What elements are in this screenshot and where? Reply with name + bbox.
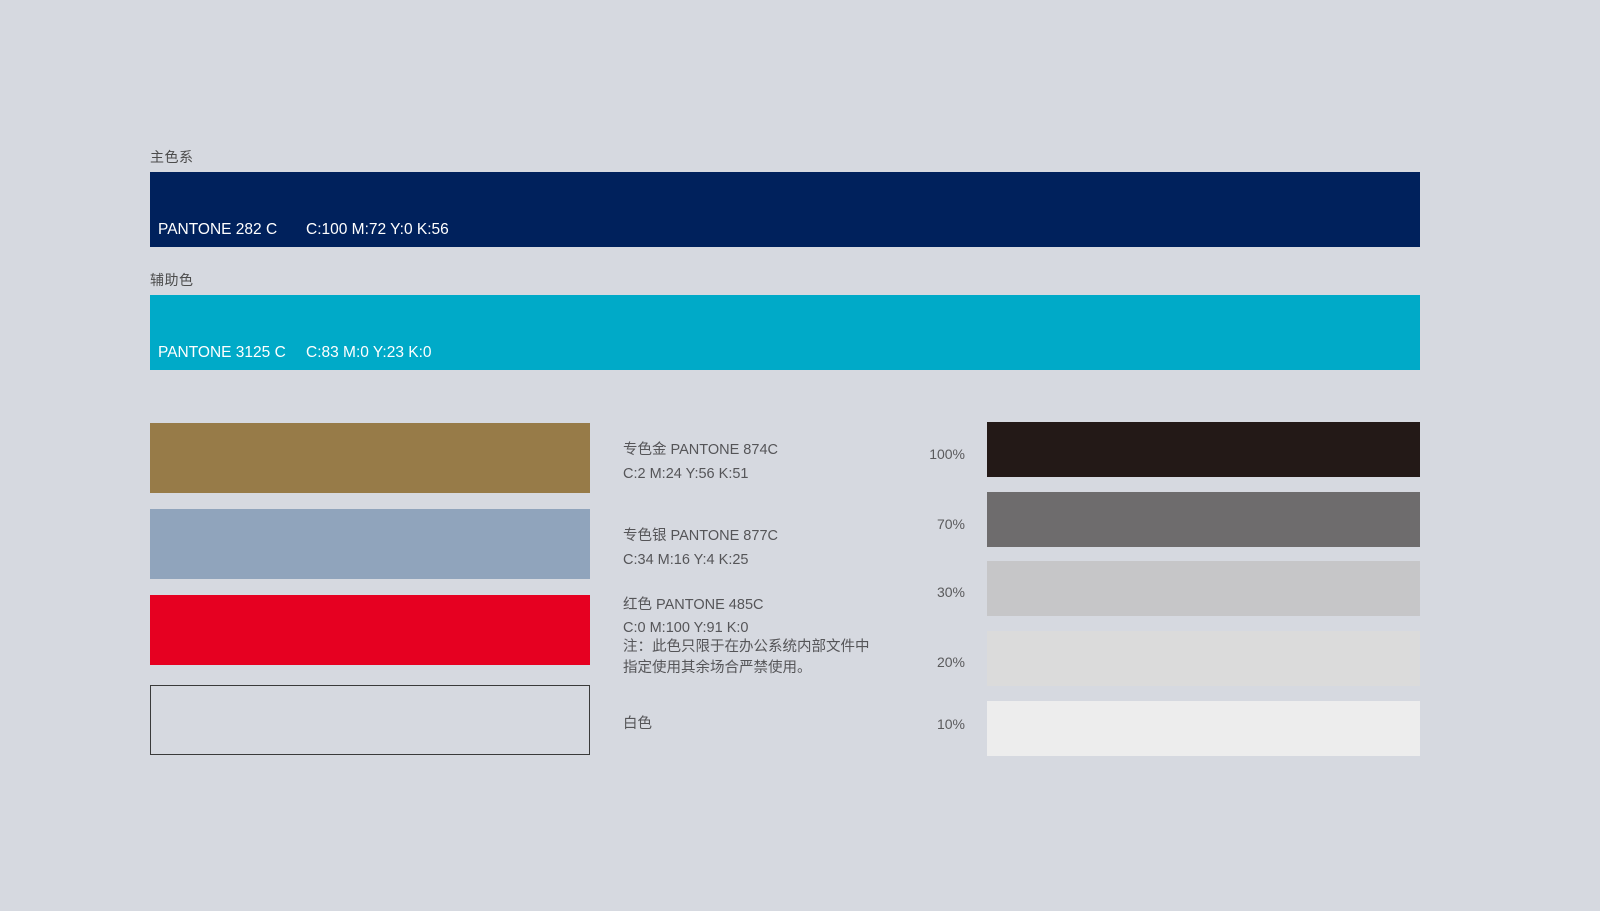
tone-percent-label-20: 20% <box>905 655 965 669</box>
spot-color-swatch-silver <box>150 509 590 579</box>
spot-color-gold-cmyk: C:2 M:24 Y:56 K:51 <box>623 467 748 482</box>
spot-color-silver-cmyk: C:34 M:16 Y:4 K:25 <box>623 553 748 568</box>
spot-color-gold-name: 专色金 PANTONE 874C <box>623 443 778 458</box>
spot-color-white-name: 白色 <box>623 717 652 732</box>
secondary-cmyk-values: C:83 M:0 Y:23 K:0 <box>306 344 432 362</box>
primary-section-label: 主色系 <box>150 150 194 164</box>
tone-percent-label-10: 10% <box>905 717 965 731</box>
spot-color-swatch-white <box>150 685 590 755</box>
tone-swatch-10 <box>987 701 1420 756</box>
secondary-pantone-code: PANTONE 3125 C <box>158 344 306 362</box>
tone-percent-label-100: 100% <box>905 447 965 461</box>
primary-color-swatch: PANTONE 282 C C:100 M:72 Y:0 K:56 <box>150 172 1420 247</box>
tone-swatch-20 <box>987 631 1420 686</box>
tone-percent-label-30: 30% <box>905 585 965 599</box>
primary-color-caption: PANTONE 282 C C:100 M:72 Y:0 K:56 <box>158 221 449 239</box>
tone-swatch-30 <box>987 561 1420 616</box>
color-specification-page: 主色系 PANTONE 282 C C:100 M:72 Y:0 K:56 辅助… <box>0 0 1600 911</box>
secondary-color-swatch: PANTONE 3125 C C:83 M:0 Y:23 K:0 <box>150 295 1420 370</box>
primary-pantone-code: PANTONE 282 C <box>158 221 306 239</box>
tone-percent-label-70: 70% <box>905 517 965 531</box>
spot-color-red-usage-note-line1: 注：此色只限于在办公系统内部文件中 <box>623 637 870 658</box>
tone-swatch-100 <box>987 422 1420 477</box>
tone-swatch-70 <box>987 492 1420 547</box>
spot-color-red-usage-note-line2: 指定使用其余场合严禁使用。 <box>623 658 812 679</box>
spot-color-red-name: 红色 PANTONE 485C <box>623 598 763 613</box>
spot-color-silver-name: 专色银 PANTONE 877C <box>623 529 778 544</box>
secondary-color-caption: PANTONE 3125 C C:83 M:0 Y:23 K:0 <box>158 344 432 362</box>
secondary-section-label: 辅助色 <box>150 273 194 287</box>
primary-cmyk-values: C:100 M:72 Y:0 K:56 <box>306 221 449 239</box>
spot-color-swatch-gold <box>150 423 590 493</box>
spot-color-red-cmyk: C:0 M:100 Y:91 K:0 <box>623 621 748 636</box>
spot-color-swatch-red <box>150 595 590 665</box>
